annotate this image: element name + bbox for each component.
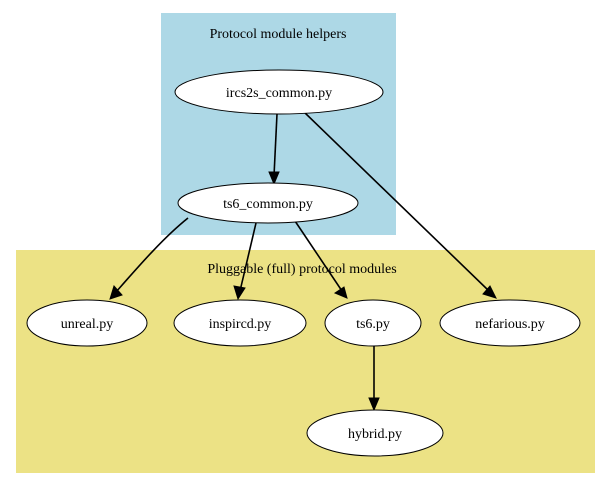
node-nefarious-py[interactable]: nefarious.py xyxy=(440,300,580,346)
node-ts6-py[interactable]: ts6.py xyxy=(325,300,421,346)
cluster-helpers-label: Protocol module helpers xyxy=(210,27,347,42)
node-hybrid-py[interactable]: hybrid.py xyxy=(307,410,443,456)
node-label: nefarious.py xyxy=(475,317,545,332)
protocol-module-dependency-diagram: Protocol module helpers Pluggable (full)… xyxy=(0,0,609,490)
node-unreal-py[interactable]: unreal.py xyxy=(27,300,147,346)
node-label: ts6_common.py xyxy=(223,197,313,212)
node-label: inspircd.py xyxy=(209,317,272,332)
cluster-pluggable-protocol-modules: Pluggable (full) protocol modules xyxy=(16,250,595,473)
node-ircs2s-common-py[interactable]: ircs2s_common.py xyxy=(175,70,383,114)
node-inspircd-py[interactable]: inspircd.py xyxy=(174,300,306,346)
node-label: ircs2s_common.py xyxy=(226,86,332,101)
node-label: hybrid.py xyxy=(348,427,402,442)
node-label: unreal.py xyxy=(61,317,113,332)
node-ts6-common-py[interactable]: ts6_common.py xyxy=(178,183,358,223)
cluster-pluggable-label: Pluggable (full) protocol modules xyxy=(207,262,396,277)
cluster-pluggable-rect xyxy=(16,250,595,473)
node-label: ts6.py xyxy=(356,317,390,332)
